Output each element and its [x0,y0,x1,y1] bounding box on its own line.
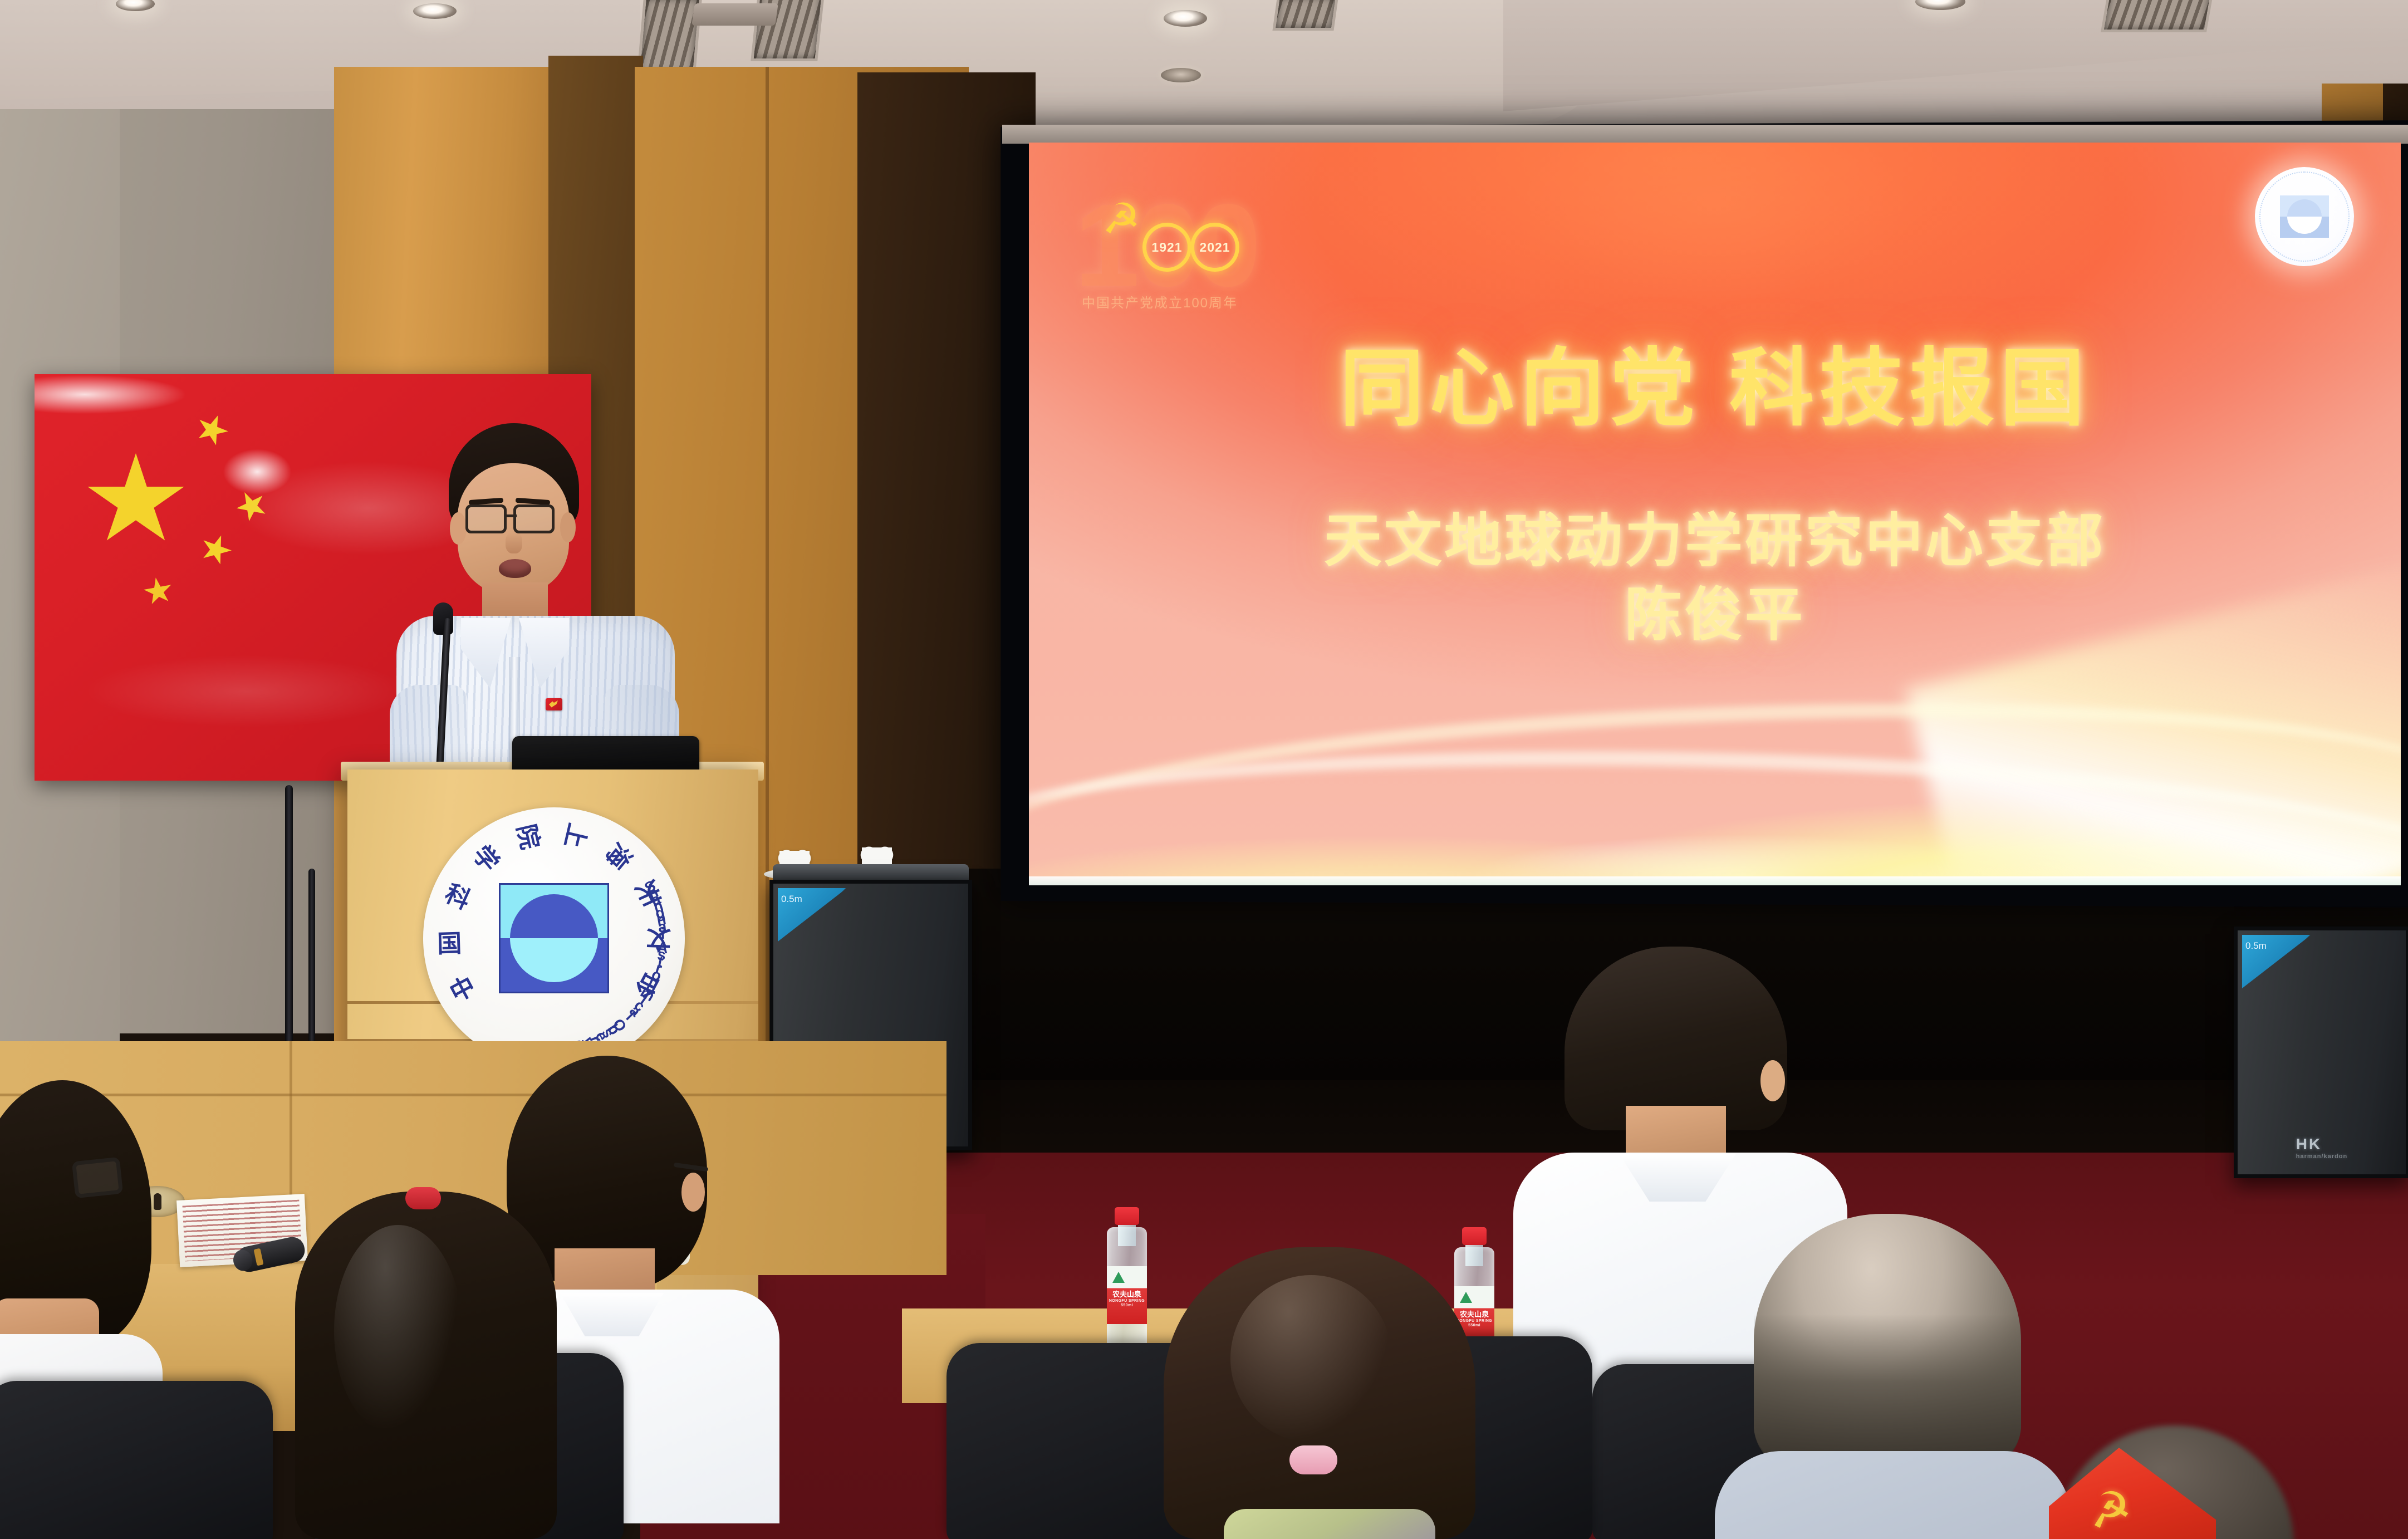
wall-panel-seam [766,67,769,1080]
emblem-circle-mark [510,894,598,982]
logo-circle-mark [2287,199,2322,234]
ceiling-downlight [413,3,457,19]
speaker-sticker: 0.5m [778,888,847,942]
emblem-square-mark [499,883,609,993]
emblem-char: 国 [437,923,462,959]
cpc-emblem-caption: 中国共产党成立100周年 [1079,292,1240,314]
bottle-brand-en: NONGFU SPRING [1107,1299,1147,1303]
hair-tie [405,1187,441,1209]
hair-tie [1289,1445,1337,1474]
ceiling-fixture-strip [691,3,778,26]
presenter-mouth-speaking [499,559,531,578]
bottle-brand-label: 农夫山泉 NONGFU SPRING 550ml [1107,1291,1147,1308]
audience-member [0,1080,151,1347]
audience-member [1754,1214,2021,1539]
presenter-nose [506,532,522,553]
glasses-bridge [506,514,517,517]
slide-title: 同心向党 科技报国 [1029,320,2401,442]
bottle-size: 550ml [1107,1303,1147,1308]
slide-subtitle-line-1: 天文地球动力学研究中心支部 [1029,504,2401,579]
glasses-icon [465,504,507,533]
speaker-sticker: 0.5m [2242,935,2311,988]
cpc-year-end: 2021 [1190,223,1239,272]
projection-screen-bezel [1002,125,2408,144]
speaker-brand-label: HK harman/kardon [2296,1135,2347,1160]
auditorium-chair [0,1381,273,1539]
audience-hair [1565,947,1787,1130]
emblem-char: 上 [557,820,597,852]
presenter-ear-right [560,512,576,542]
emblem-char: 海 [599,836,641,878]
slide-bottom-edge [1029,876,2401,885]
projection-screen-slide: 100 ☭ 1921 2021 中国共产党成立100周年 同心向党 科技报国 天… [1029,143,2401,885]
ceiling-downlight-off [1161,68,1201,82]
audience-garment [1224,1509,1435,1539]
glasses-icon [72,1157,123,1199]
water-bottle: 农夫山泉 NONGFU SPRING 550ml [1107,1207,1147,1352]
bottle-cap [1115,1207,1139,1225]
audience-member [1164,1247,1475,1539]
observatory-podium-emblem: 中国科学院上海天文台 Shanghai Astronomical Observa… [423,807,685,1069]
emblem-char: 中 [443,966,481,1009]
speaker-brand-text: HK [2296,1135,2322,1153]
audience-ear [1760,1060,1785,1101]
audience-hair-highlight [334,1225,462,1437]
speaker-brand-subtext: harman/kardon [2296,1153,2347,1160]
bottle-neck [1118,1222,1136,1246]
bottle-label: 农夫山泉 NONGFU SPRING 550ml [1107,1266,1147,1324]
glasses-icon [513,504,555,533]
air-vent-icon [637,0,703,76]
presenter-ear-left [450,512,467,545]
ceiling-downlight [1164,10,1207,27]
audience-member [1565,947,1787,1208]
conference-hall-photo: 100 ☭ 1921 2021 中国共产党成立100周年 同心向党 科技报国 天… [0,0,2408,1539]
audience-shirt [1715,1451,2071,1539]
party-pin-icon [546,698,562,710]
cpc-year-start: 1921 [1142,223,1191,272]
air-vent-icon [1272,0,1338,31]
bottle-brand-cn: 农夫山泉 [1112,1290,1141,1298]
hammer-sickle-icon: ☭ [2080,1481,2140,1539]
audience-hair-highlight [1230,1275,1392,1442]
emblem-char: 学 [466,836,509,878]
emblem-char: 科 [440,874,478,916]
loudspeaker-right: 0.5m HK harman/kardon [2234,927,2408,1178]
audience-ear [681,1173,705,1212]
cpc-centenary-emblem: 100 ☭ 1921 2021 中国共产党成立100周年 [1075,174,1247,324]
logo-square-mark [2280,195,2329,238]
bottle-cap [1462,1227,1487,1245]
hammer-sickle-icon: ☭ [1102,199,1146,239]
audience-hair [1754,1314,2021,1470]
observatory-logo-icon [2255,167,2354,266]
emblem-char: 院 [510,820,550,852]
air-vent-icon [2101,0,2214,32]
audience-member [295,1192,557,1539]
